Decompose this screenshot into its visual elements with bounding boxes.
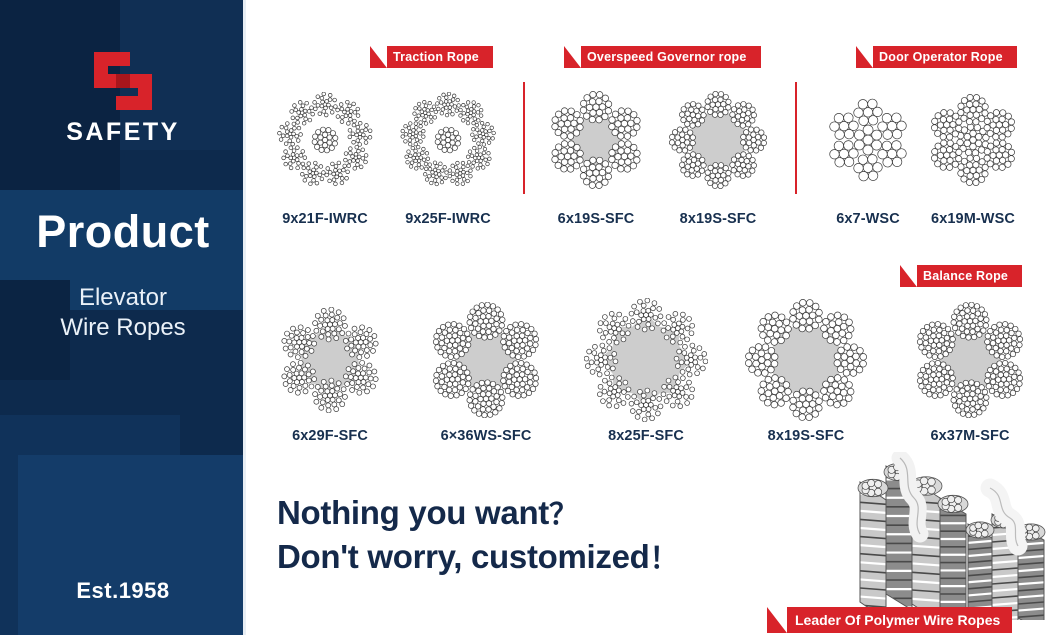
- rope-label-9x21f-iwrc: 9x21F-IWRC: [275, 211, 375, 227]
- rope-label-6x37m-sfc: 6x37M-SFC: [910, 428, 1030, 444]
- group-banner-overspeed-governor-rope: Overspeed Governor rope: [581, 46, 761, 68]
- tagline-line-2: Don't worry, customized！: [277, 536, 678, 580]
- tagline-line-1-text: Nothing you want: [277, 494, 549, 531]
- sidebar: SAFETY Product Elevator Wire Ropes Est.1…: [0, 0, 246, 635]
- tagline-line-2-text: Don't worry, customized: [277, 538, 650, 575]
- rope-cross-section-6x19m-wsc: [927, 94, 1019, 186]
- rope-label-8x25f-sfc: 8x25F-SFC: [586, 428, 706, 444]
- rope-label-6x7-wsc: 6x7-WSC: [818, 211, 918, 227]
- brand-name: SAFETY: [0, 118, 246, 147]
- rope-cross-section-6x29f-sfc: [277, 307, 383, 413]
- tagline: Nothing you want？ Don't worry, customize…: [277, 492, 678, 580]
- sidebar-edge: [243, 0, 246, 635]
- rope-cross-section-9x25f-iwrc: [400, 92, 496, 188]
- rope-cross-section-8x25f-sfc: [584, 298, 708, 422]
- sidebar-bg-block-6: [18, 455, 246, 635]
- group-banner-balance-rope: Balance Rope: [917, 265, 1022, 287]
- rope-label-6x19s-sfc: 6x19S-SFC: [546, 211, 646, 227]
- rope-cross-section-9x21f-iwrc: [277, 92, 373, 188]
- wire-rope-bundle-photo: [840, 452, 1060, 620]
- tagline-exclamation-mark: ！: [650, 543, 679, 575]
- footer-banner: Leader Of Polymer Wire Ropes: [787, 607, 1012, 633]
- rope-label-8x19s-sfc: 8x19S-SFC: [746, 428, 866, 444]
- safety-s-logo-icon: [86, 44, 160, 118]
- group-banner-traction-rope: Traction Rope: [387, 46, 493, 68]
- logo: [0, 44, 246, 123]
- rope-cross-section-6×36ws-sfc: [428, 302, 544, 418]
- group-divider-1: [523, 82, 525, 194]
- established-year: Est.1958: [0, 578, 246, 604]
- subtitle-line-2: Wire Ropes: [60, 314, 185, 341]
- product-infographic: SAFETY Product Elevator Wire Ropes Est.1…: [0, 0, 1060, 635]
- rope-cross-section-6x37m-sfc: [912, 302, 1028, 418]
- rope-cross-section-6x19s-sfc: [547, 91, 645, 189]
- page-subtitle: Elevator Wire Ropes: [0, 283, 246, 343]
- rope-label-6x29f-sfc: 6x29F-SFC: [270, 428, 390, 444]
- tagline-question-mark: ？: [549, 499, 578, 531]
- page-title: Product: [0, 206, 246, 258]
- rope-label-9x25f-iwrc: 9x25F-IWRC: [398, 211, 498, 227]
- rope-cross-section-8x19s-sfc: [669, 91, 767, 189]
- tagline-line-1: Nothing you want？: [277, 492, 678, 536]
- subtitle-line-1: Elevator: [79, 284, 167, 311]
- rope-label-8x19s-sfc: 8x19S-SFC: [668, 211, 768, 227]
- rope-cross-section-6x7-wsc: [826, 98, 910, 182]
- group-divider-2: [795, 82, 797, 194]
- rope-label-6x19m-wsc: 6x19M-WSC: [923, 211, 1023, 227]
- rope-cross-section-8x19s-sfc: [745, 299, 867, 421]
- group-banner-door-operator-rope: Door Operator Rope: [873, 46, 1017, 68]
- rope-label-6×36ws-sfc: 6×36WS-SFC: [426, 428, 546, 444]
